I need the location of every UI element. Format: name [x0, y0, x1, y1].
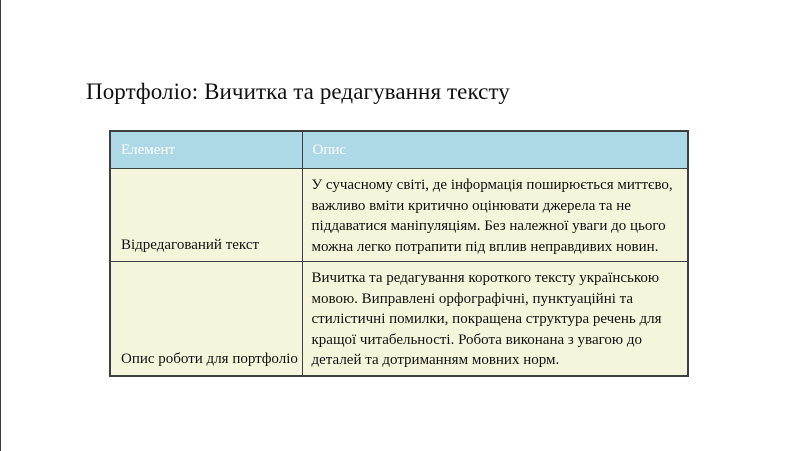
column-header-description: Опис	[302, 131, 688, 169]
column-header-description-label: Опис	[303, 142, 688, 159]
row-description-text: У сучасному світі, де інформація поширює…	[303, 169, 688, 261]
table-header: Елемент Опис	[110, 131, 688, 169]
row-label-cell: Опис роботи для портфоліо	[110, 262, 302, 376]
portfolio-table: Елемент Опис Відредагований текст У суча…	[109, 130, 689, 377]
row-label-text: Відредагований текст	[111, 235, 302, 261]
row-description-cell: У сучасному світі, де інформація поширює…	[302, 169, 688, 262]
column-header-element: Елемент	[110, 131, 302, 169]
row-description-text: Вичитка та редагування короткого тексту …	[303, 262, 688, 375]
portfolio-table-container: Елемент Опис Відредагований текст У суча…	[109, 130, 687, 377]
page-title: Портфоліо: Вичитка та редагування тексту	[86, 78, 510, 106]
table-row: Опис роботи для портфоліо Вичитка та ред…	[110, 262, 688, 376]
table-row: Відредагований текст У сучасному світі, …	[110, 169, 688, 262]
table-header-row: Елемент Опис	[110, 131, 688, 169]
document-page: Портфоліо: Вичитка та редагування тексту…	[0, 0, 800, 451]
row-description-cell: Вичитка та редагування короткого тексту …	[302, 262, 688, 376]
table-body: Відредагований текст У сучасному світі, …	[110, 169, 688, 376]
row-label-cell: Відредагований текст	[110, 169, 302, 262]
row-label-text: Опис роботи для портфоліо	[111, 349, 302, 375]
column-header-element-label: Елемент	[111, 142, 302, 159]
